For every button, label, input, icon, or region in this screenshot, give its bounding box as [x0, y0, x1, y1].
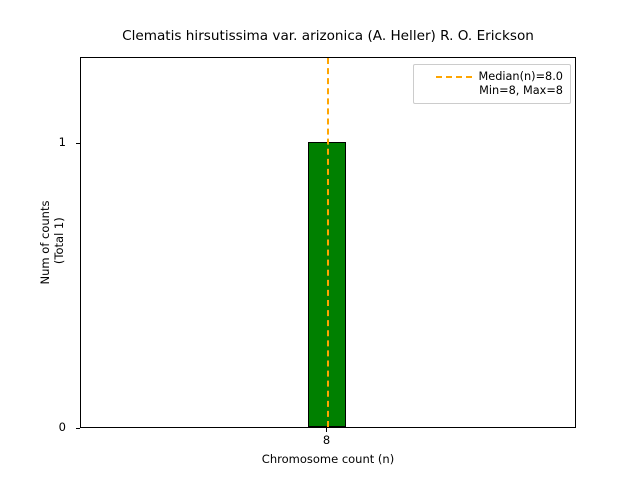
- legend: Median(n)=8.0 Min=8, Max=8: [413, 64, 571, 104]
- legend-median-label: Median(n)=8.0: [479, 70, 564, 84]
- legend-item-median: Median(n)=8.0: [420, 70, 563, 84]
- y-axis-label: Num of counts (Total 1): [38, 57, 68, 428]
- legend-item-range: Min=8, Max=8: [420, 84, 563, 98]
- chart-title: Clematis hirsutissima var. arizonica (A.…: [80, 28, 576, 44]
- median-line: [327, 58, 329, 427]
- plot-inner: [81, 58, 575, 427]
- xtick-mark-8: [326, 428, 327, 432]
- ytick-mark-0: [76, 428, 80, 429]
- x-axis-label: Chromosome count (n): [80, 452, 576, 466]
- figure-canvas: Clematis hirsutissima var. arizonica (A.…: [0, 0, 640, 480]
- dashed-line-icon: [436, 70, 472, 84]
- y-axis-label-line2: (Total 1): [52, 217, 66, 267]
- legend-range-label: Min=8, Max=8: [479, 84, 563, 98]
- xtick-label-8: 8: [306, 434, 347, 447]
- y-axis-label-line1: Num of counts: [38, 201, 52, 285]
- plot-area: [80, 57, 576, 428]
